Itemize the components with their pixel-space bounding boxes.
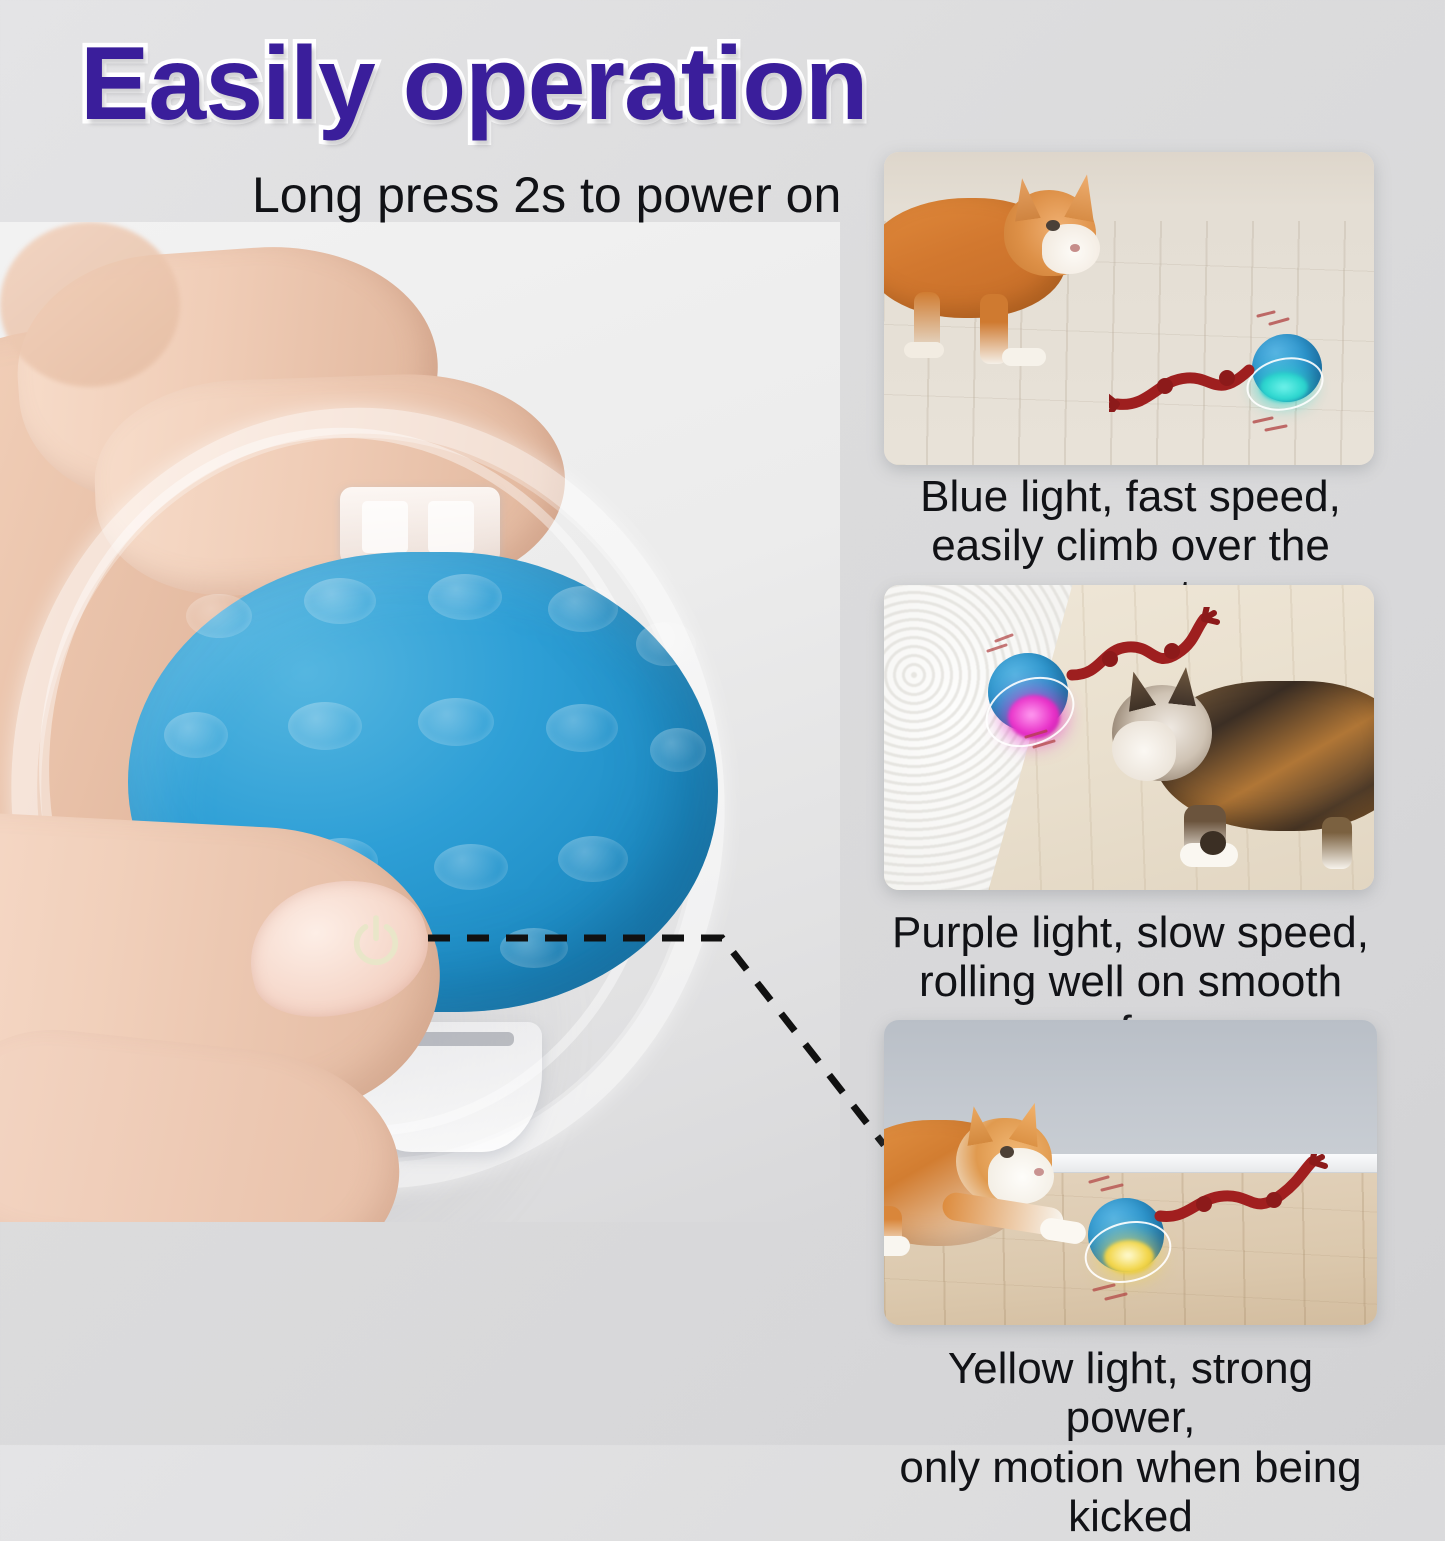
ball-dimple (434, 844, 508, 890)
ball-dimple (636, 622, 696, 666)
ball-dimple (304, 578, 376, 624)
ball-dimple (558, 836, 628, 882)
motion-lines (980, 625, 1110, 755)
ball-dimple (164, 712, 228, 758)
page-title: Easily operation (80, 32, 867, 136)
ball-dimple (500, 928, 568, 968)
hero-product-photo (0, 222, 840, 1222)
photo-yellow-light-kitten (884, 1020, 1377, 1325)
power-icon[interactable] (348, 912, 404, 968)
motion-lines (1244, 302, 1354, 442)
photo-blue-light-kitten (884, 152, 1374, 465)
page-subtitle: Long press 2s to power on (252, 170, 841, 220)
ball-dimple (186, 594, 252, 638)
ball-dimple (546, 704, 618, 752)
photo-purple-light-cat (884, 585, 1374, 890)
ball-dimple (418, 698, 494, 746)
caption-yellow-light: Yellow light, strong power, only motion … (884, 1344, 1377, 1541)
motion-lines (1076, 1168, 1206, 1308)
ball-dimple (650, 728, 706, 772)
knuckle (0, 222, 180, 387)
ball-dimple (288, 702, 362, 750)
infographic-stage: Blue light, fast speed, easily climb ove… (0, 0, 1445, 1445)
ball-dimple (428, 574, 502, 620)
ball-dimple (548, 586, 618, 632)
